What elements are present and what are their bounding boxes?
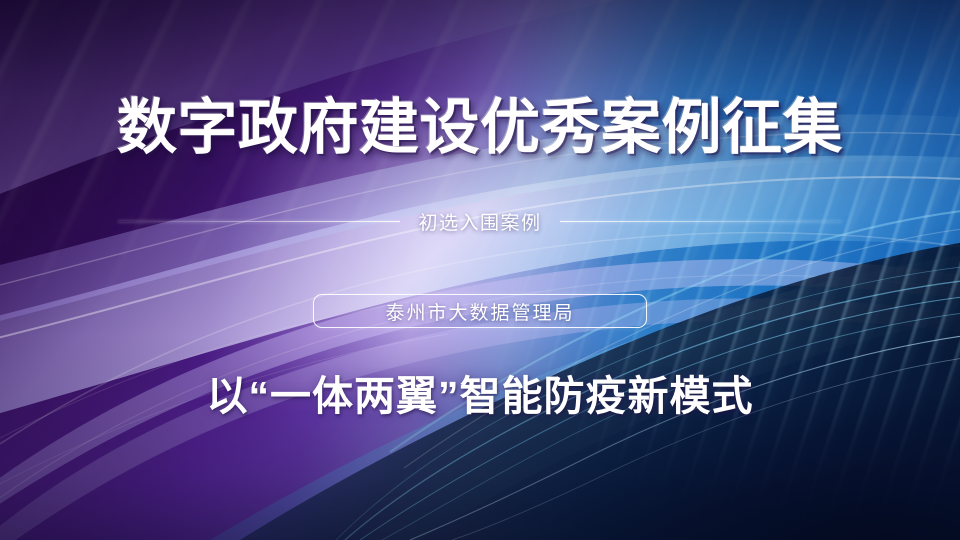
- divider-line-left: [118, 221, 400, 222]
- subtitle-row: 初选入围案例: [0, 206, 960, 236]
- slide-content: 数字政府建设优秀案例征集 初选入围案例 泰州市大数据管理局 以“一体两翼”智能防…: [0, 0, 960, 540]
- presentation-slide: 数字政府建设优秀案例征集 初选入围案例 泰州市大数据管理局 以“一体两翼”智能防…: [0, 0, 960, 540]
- case-headline: 以“一体两翼”智能防疫新模式: [0, 362, 960, 422]
- divider-line-right: [560, 221, 842, 222]
- subtitle-text: 初选入围案例: [418, 208, 541, 235]
- organization-name: 泰州市大数据管理局: [385, 298, 574, 325]
- main-title: 数字政府建设优秀案例征集: [0, 96, 960, 161]
- organization-box: 泰州市大数据管理局: [313, 294, 647, 328]
